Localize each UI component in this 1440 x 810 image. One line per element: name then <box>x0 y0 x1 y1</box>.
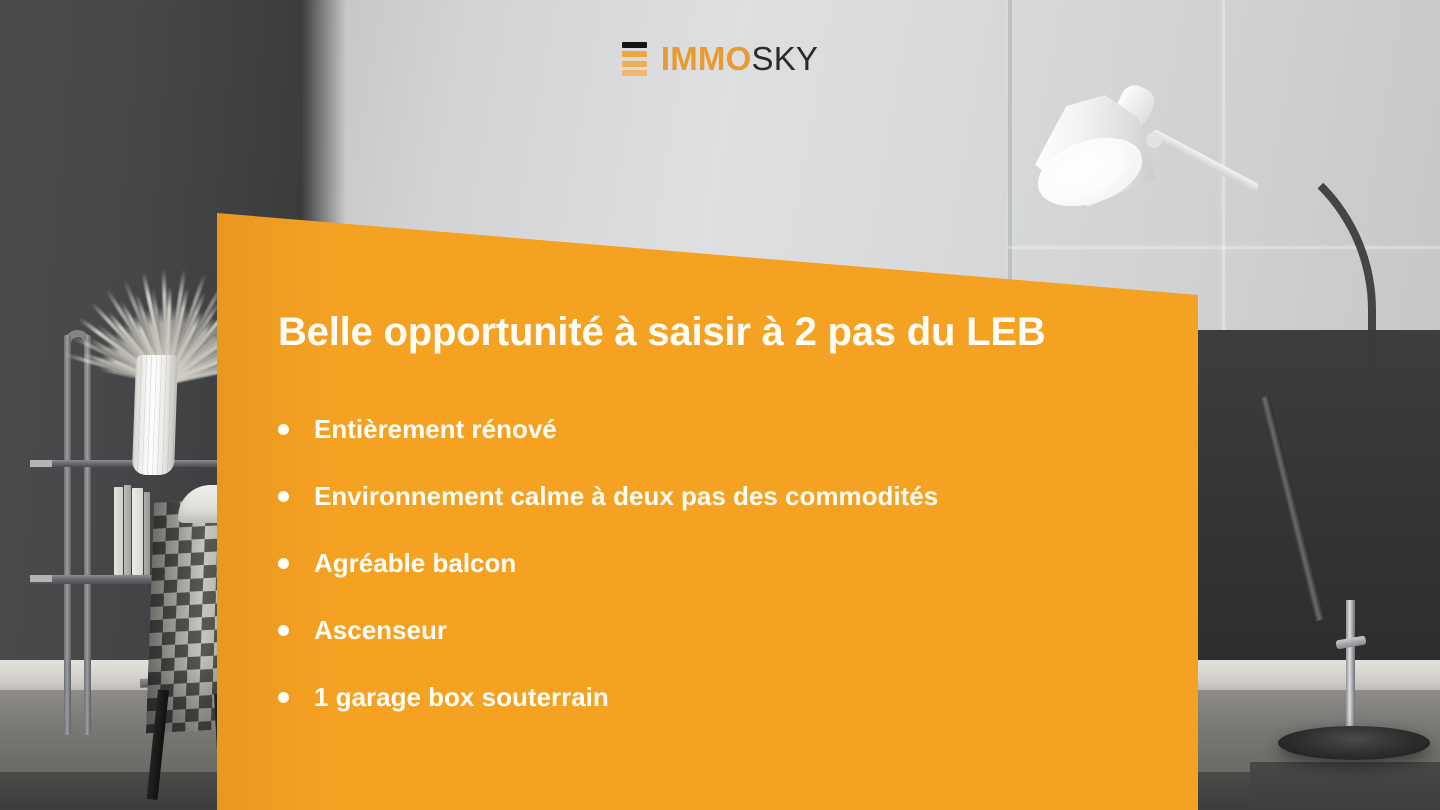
shelf-cap-upper <box>30 460 52 467</box>
book <box>114 487 123 575</box>
list-item: Entièrement rénové <box>278 396 1178 463</box>
list-item-label: Environnement calme à deux pas des commo… <box>314 481 938 512</box>
list-item-label: Agréable balcon <box>314 548 516 579</box>
logo-bar <box>622 70 647 76</box>
brand-wordmark-secondary: SKY <box>751 40 818 77</box>
list-item: Ascenseur <box>278 597 1178 664</box>
list-item-label: 1 garage box souterrain <box>314 682 609 713</box>
logo-bar <box>622 51 647 57</box>
bullet-dot-icon <box>278 692 289 703</box>
lamp-joint <box>1146 132 1162 148</box>
shelf-board-upper <box>30 460 220 467</box>
lamp-rod-chrome <box>1346 600 1355 730</box>
list-item-label: Ascenseur <box>314 615 447 646</box>
shelf-post-right <box>84 335 91 735</box>
feature-list: Entièrement rénovéEnvironnement calme à … <box>278 396 1178 731</box>
stacked-bars-icon <box>622 42 647 77</box>
page-title: Belle opportunité à saisir à 2 pas du LE… <box>278 310 1178 354</box>
bullet-dot-icon <box>278 558 289 569</box>
white-ribbed-vase <box>132 355 178 475</box>
brand-logo: IMMOSKY <box>0 40 1440 78</box>
book <box>132 488 143 575</box>
shelf-cap-lower <box>30 575 52 582</box>
panel-content: Belle opportunité à saisir à 2 pas du LE… <box>278 310 1178 731</box>
brand-wordmark: IMMOSKY <box>661 40 818 78</box>
logo-bar <box>622 61 647 67</box>
book <box>144 492 150 575</box>
lamp-base <box>1278 726 1430 760</box>
list-item-label: Entièrement rénové <box>314 414 557 445</box>
list-item: Agréable balcon <box>278 530 1178 597</box>
book <box>124 485 131 575</box>
bullet-dot-icon <box>278 625 289 636</box>
floor-rug-right <box>1250 762 1440 810</box>
list-item: 1 garage box souterrain <box>278 664 1178 731</box>
logo-bar <box>622 42 647 48</box>
brand-wordmark-primary: IMMO <box>661 40 752 77</box>
list-item: Environnement calme à deux pas des commo… <box>278 463 1178 530</box>
bullet-dot-icon <box>278 491 289 502</box>
bullet-dot-icon <box>278 424 289 435</box>
shelf-post-left <box>64 335 71 735</box>
slide-canvas: Belle opportunité à saisir à 2 pas du LE… <box>0 0 1440 810</box>
